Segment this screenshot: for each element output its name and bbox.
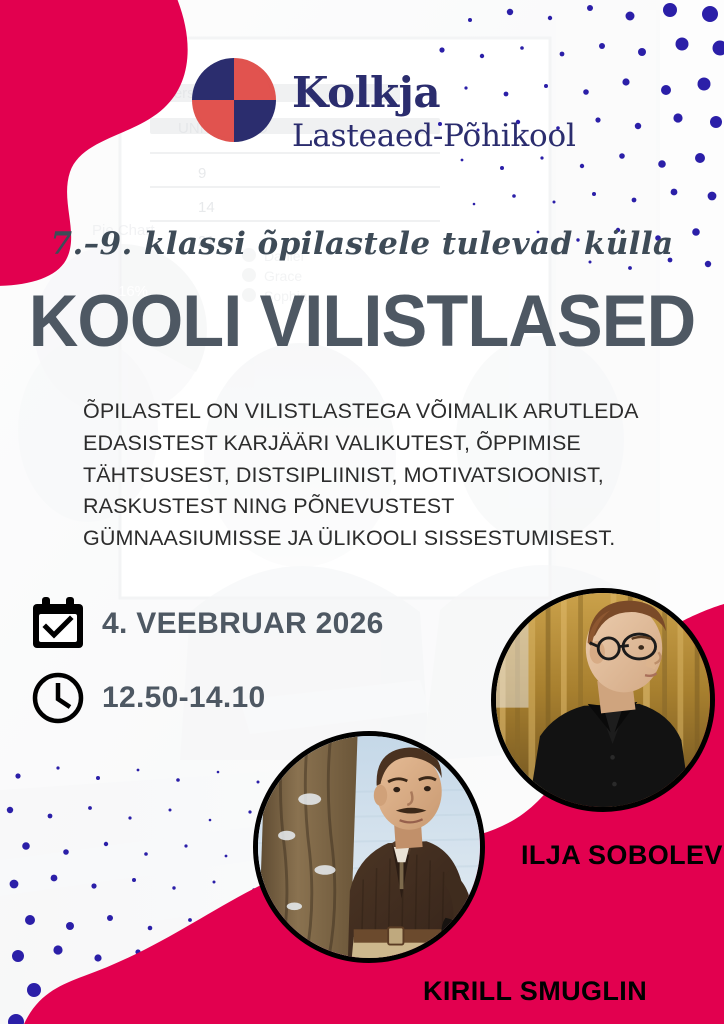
event-date-row: 4. VEEBRUAR 2026 (30, 596, 384, 652)
event-date-label: 4. VEEBRUAR 2026 (102, 607, 384, 641)
description-paragraph: ÕPILASTEL ON VILISTLASTEGA VÕIMALIK ARUT… (83, 396, 643, 555)
guest-name-ilja: ILJA SOBOLEV (521, 840, 723, 871)
page-title: KOOLI VILISTLASED (22, 287, 703, 357)
calendar-check-icon (30, 596, 86, 652)
clock-icon (30, 670, 86, 726)
guest-photo-kirill (253, 731, 485, 963)
kicker-line: 7.–9. klassi õpilastele tulevad külla (0, 226, 724, 262)
event-details: 4. VEEBRUAR 2026 12.50-14.10 (30, 596, 384, 726)
poster-canvas: sperson UNITS SOLD 9 14 21 Pie Chart 16%… (0, 0, 724, 1024)
school-logo: Kolkja Lasteaed-Põhikool (186, 48, 576, 152)
event-time-label: 12.50-14.10 (102, 681, 265, 715)
event-time-row: 12.50-14.10 (30, 670, 384, 726)
guest-name-kirill: KIRILL SMUGLIN (423, 976, 647, 1007)
logo-school-subtitle: Lasteaed-Põhikool (292, 121, 576, 152)
logo-school-name: Kolkja (292, 72, 576, 114)
guest-photo-ilja (491, 588, 715, 812)
kolkja-pinwheel-logo-icon (186, 52, 282, 148)
